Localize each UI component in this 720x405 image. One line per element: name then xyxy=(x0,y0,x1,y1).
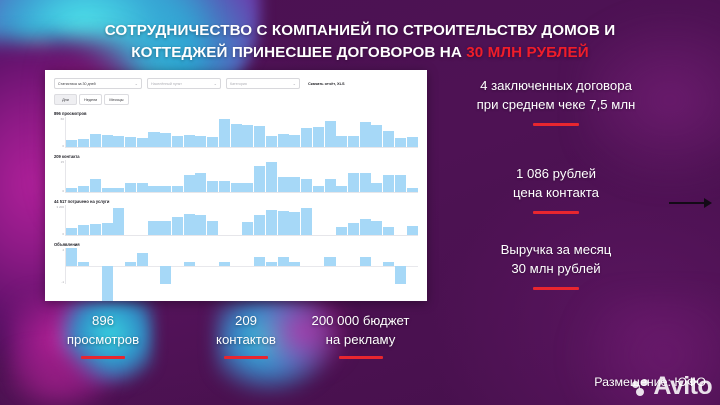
y-axis-top-ads: 4 xyxy=(62,248,64,252)
avito-wordmark: Avito xyxy=(653,374,712,399)
y-axis-spend: 3 200 0 xyxy=(54,205,65,236)
stat-views-value: 896 xyxy=(38,312,168,331)
bar xyxy=(383,175,394,192)
bar xyxy=(301,179,312,192)
highlight-contracts-line1: 4 заключенных договора xyxy=(431,76,681,95)
bar xyxy=(254,257,265,266)
bar xyxy=(231,183,242,192)
bar xyxy=(242,183,253,192)
chart-block-contacts: 209 контакта 15 0 xyxy=(54,154,418,193)
chart-title-ads: Объявления xyxy=(54,242,418,247)
bar-slot xyxy=(348,248,359,284)
bar xyxy=(289,135,300,147)
bar-slot xyxy=(137,248,148,284)
bar xyxy=(219,119,230,147)
bar xyxy=(360,219,371,235)
bar-slot xyxy=(66,248,77,284)
chevron-down-icon: ⌄ xyxy=(293,81,296,86)
y-axis-bottom-spend: 0 xyxy=(62,232,64,236)
category-select[interactable]: Категория ⌄ xyxy=(226,78,300,89)
bar xyxy=(184,214,195,235)
chart-title-views: 896 просмотров xyxy=(54,111,418,116)
bar xyxy=(348,223,359,235)
bar xyxy=(242,222,253,235)
bar xyxy=(325,121,336,147)
bar xyxy=(125,262,136,267)
bar xyxy=(313,127,324,147)
bar xyxy=(407,226,418,235)
bar xyxy=(313,186,324,192)
bar xyxy=(78,139,89,147)
highlight-contact-price-line2: цена контакта xyxy=(431,183,681,202)
period-select[interactable]: Статистика за 30 дней ⌄ xyxy=(54,78,142,89)
avito-watermark: Avito xyxy=(632,374,712,399)
y-axis-top-views: 60 xyxy=(61,117,64,121)
bar xyxy=(278,257,289,266)
bar xyxy=(148,132,159,147)
bar xyxy=(395,138,406,147)
bar xyxy=(66,188,77,192)
bar-slot xyxy=(371,248,382,284)
bar xyxy=(219,262,230,267)
accent-rule xyxy=(224,356,268,358)
stat-views-label: просмотров xyxy=(38,331,168,350)
bar xyxy=(195,136,206,147)
tab-weeks[interactable]: Недели xyxy=(79,94,102,105)
dashboard-toolbar: Статистика за 30 дней ⌄ Населённый пункт… xyxy=(54,78,418,89)
location-select-placeholder: Населённый пункт xyxy=(151,82,182,86)
highlight-contact-price: 1 086 рублей цена контакта xyxy=(431,164,681,214)
y-axis-top-contacts: 15 xyxy=(61,160,64,164)
bar xyxy=(278,177,289,192)
accent-rule xyxy=(81,356,125,358)
bar xyxy=(137,138,148,147)
bar xyxy=(266,262,277,267)
y-axis-ads: 4 -1 xyxy=(54,248,65,284)
bar xyxy=(383,227,394,235)
bar xyxy=(371,125,382,147)
bar xyxy=(278,211,289,235)
bar xyxy=(360,173,371,192)
bar xyxy=(137,253,148,267)
bar xyxy=(125,137,136,148)
bar xyxy=(172,217,183,235)
bar xyxy=(254,126,265,147)
bar xyxy=(289,212,300,235)
stat-budget: 200 000 бюджет на рекламу xyxy=(288,312,433,359)
bar xyxy=(160,133,171,148)
chart-title-contacts: 209 контакта xyxy=(54,154,418,159)
bar xyxy=(254,215,265,235)
download-report-link[interactable]: Скачать отчёт, XLS xyxy=(308,81,345,86)
bar xyxy=(289,262,300,267)
highlight-contracts-line2: при среднем чеке 7,5 млн xyxy=(431,95,681,114)
bar-slot xyxy=(383,248,394,284)
bar-slot xyxy=(266,248,277,284)
bar-slot xyxy=(360,248,371,284)
y-axis-contacts: 15 0 xyxy=(54,160,65,193)
bar-slot xyxy=(102,248,113,284)
bar xyxy=(407,137,418,147)
bar-slot xyxy=(90,248,101,284)
bar xyxy=(195,173,206,192)
bar xyxy=(90,224,101,235)
bar xyxy=(78,225,89,235)
bar xyxy=(324,257,335,266)
bar xyxy=(266,210,277,235)
bar xyxy=(184,175,195,192)
bar xyxy=(278,134,289,147)
bar-slot xyxy=(313,248,324,284)
bar xyxy=(348,136,359,147)
chart-plot-ads xyxy=(65,248,418,284)
category-select-placeholder: Категория xyxy=(230,82,247,86)
bar xyxy=(102,135,113,148)
tab-months[interactable]: Месяцы xyxy=(104,94,128,105)
bar xyxy=(125,183,136,192)
bar xyxy=(113,188,124,192)
bar xyxy=(172,136,183,148)
bar xyxy=(113,136,124,147)
bar xyxy=(336,186,347,192)
bar-slot xyxy=(289,248,300,284)
bar-slot xyxy=(195,248,206,284)
location-select[interactable]: Населённый пункт ⌄ xyxy=(147,78,221,89)
bar-slot xyxy=(278,248,289,284)
stat-budget-label: на рекламу xyxy=(288,331,433,350)
bar xyxy=(66,228,77,235)
page-title: СОТРУДНИЧЕСТВО С КОМПАНИЕЙ ПО СТРОИТЕЛЬС… xyxy=(60,20,660,63)
bar xyxy=(207,221,218,235)
bar xyxy=(137,183,148,192)
bar xyxy=(407,188,418,192)
bar-slot xyxy=(324,248,335,284)
dashboard-screenshot-card: Статистика за 30 дней ⌄ Населённый пункт… xyxy=(45,70,427,301)
bar xyxy=(325,179,336,192)
chart-plot-views xyxy=(65,117,418,148)
bar xyxy=(231,124,242,148)
bar xyxy=(148,186,159,192)
bar xyxy=(360,122,371,147)
period-select-value: Статистика за 30 дней xyxy=(58,82,96,86)
stat-budget-value: 200 000 бюджет xyxy=(288,312,433,331)
bar xyxy=(102,223,113,235)
bar-slot xyxy=(254,248,265,284)
bar-slot xyxy=(407,248,418,284)
bar xyxy=(383,131,394,147)
highlight-contact-price-line1: 1 086 рублей xyxy=(431,164,681,183)
bar-slot xyxy=(336,248,347,284)
title-highlight: 30 МЛН РУБЛЕЙ xyxy=(466,44,589,61)
accent-rule xyxy=(533,123,579,125)
avito-dots-icon xyxy=(632,378,654,396)
y-axis-bottom-views: 0 xyxy=(62,144,64,148)
arrow-right-icon xyxy=(668,196,712,210)
title-line-1: СОТРУДНИЧЕСТВО С КОМПАНИЕЙ ПО СТРОИТЕЛЬС… xyxy=(105,22,616,39)
bar xyxy=(66,140,77,147)
bar-slot xyxy=(160,248,171,284)
bar xyxy=(90,179,101,192)
bar xyxy=(348,173,359,192)
bar xyxy=(289,177,300,192)
bar xyxy=(266,162,277,192)
title-line-2-plain: КОТТЕДЖЕЙ ПРИНЕСШЕЕ ДОГОВОРОВ НА xyxy=(131,44,466,61)
y-axis-top-spend: 3 200 xyxy=(56,205,64,209)
chart-block-ads: Объявления 4 -1 xyxy=(54,242,418,284)
bar xyxy=(113,208,124,235)
y-axis-bottom-ads: -1 xyxy=(61,280,64,284)
bar xyxy=(207,181,218,192)
bar-slot xyxy=(395,248,406,284)
bar-slot xyxy=(219,248,230,284)
y-axis-bottom-contacts: 0 xyxy=(62,189,64,193)
bar xyxy=(371,183,382,192)
bar xyxy=(172,186,183,192)
bar xyxy=(266,136,277,147)
chevron-down-icon: ⌄ xyxy=(214,81,217,86)
chart-title-spend: 44 517 потрачено на услуги xyxy=(54,199,418,204)
bar xyxy=(184,135,195,147)
highlight-contracts: 4 заключенных договора при среднем чеке … xyxy=(431,76,681,126)
bar xyxy=(90,134,101,147)
bar xyxy=(360,257,371,266)
bar xyxy=(160,186,171,192)
tab-days[interactable]: Дни xyxy=(54,94,77,105)
bar xyxy=(160,266,171,284)
bar-slot xyxy=(113,248,124,284)
bar xyxy=(184,262,195,267)
chart-block-spend: 44 517 потрачено на услуги 3 200 0 xyxy=(54,199,418,236)
accent-rule xyxy=(339,356,383,358)
bar-slot xyxy=(184,248,195,284)
stat-views: 896 просмотров xyxy=(38,312,168,359)
bar xyxy=(371,221,382,235)
bar xyxy=(383,262,394,267)
bar xyxy=(102,266,113,301)
bar-slot xyxy=(148,248,159,284)
bar-slot xyxy=(78,248,89,284)
bar-slot xyxy=(172,248,183,284)
y-axis-views: 60 0 xyxy=(54,117,65,148)
bar xyxy=(195,215,206,235)
bar xyxy=(160,221,171,235)
granularity-tabs: Дни Недели Месяцы xyxy=(54,94,418,105)
bar xyxy=(254,166,265,192)
chart-plot-contacts xyxy=(65,160,418,193)
bar xyxy=(66,248,77,266)
bar xyxy=(148,221,159,235)
bar xyxy=(395,266,406,284)
bar xyxy=(336,227,347,235)
bar-slot xyxy=(301,248,312,284)
bar xyxy=(219,181,230,192)
accent-rule xyxy=(533,211,579,213)
bar xyxy=(78,262,89,267)
highlight-revenue-line1: Выручка за месяц xyxy=(431,240,681,259)
highlight-revenue: Выручка за месяц 30 млн рублей xyxy=(431,240,681,290)
bar xyxy=(207,137,218,147)
bar xyxy=(102,188,113,192)
bar xyxy=(395,175,406,192)
bar-slot xyxy=(125,248,136,284)
chart-block-views: 896 просмотров 60 0 xyxy=(54,111,418,148)
bar xyxy=(78,186,89,192)
highlight-revenue-line2: 30 млн рублей xyxy=(431,259,681,278)
accent-rule xyxy=(533,287,579,289)
chart-plot-spend xyxy=(65,205,418,236)
bar xyxy=(336,136,347,148)
bar-slot xyxy=(207,248,218,284)
chevron-down-icon: ⌄ xyxy=(135,81,138,86)
bar xyxy=(242,125,253,148)
bar xyxy=(301,208,312,235)
bar-slot xyxy=(242,248,253,284)
bar-slot xyxy=(231,248,242,284)
bar xyxy=(301,128,312,147)
